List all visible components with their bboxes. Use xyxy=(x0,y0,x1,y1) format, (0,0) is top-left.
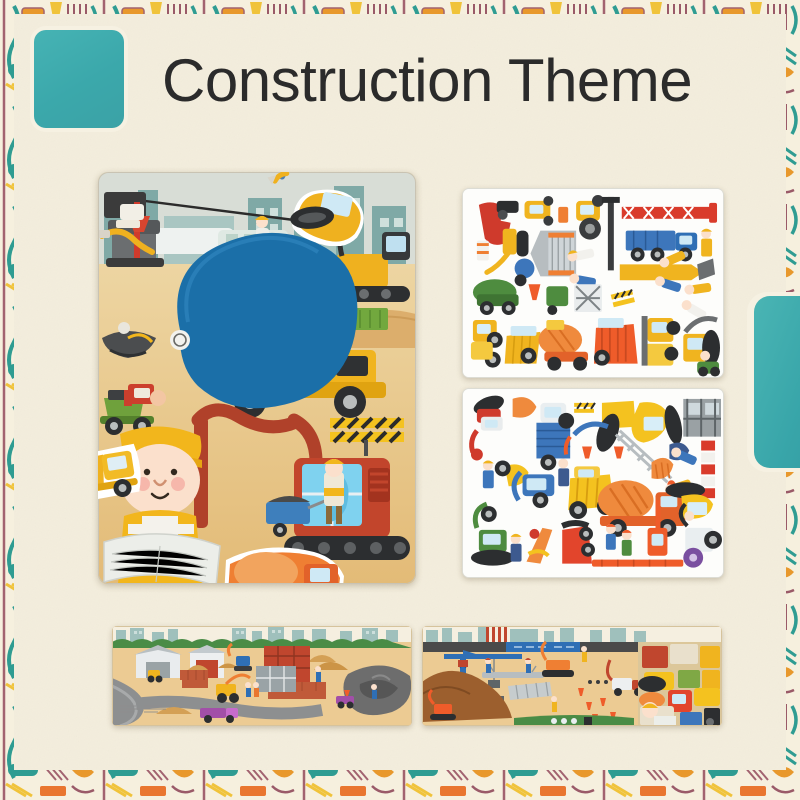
side-tab[interactable] xyxy=(754,296,800,468)
excavator-sticker-top[interactable] xyxy=(266,172,386,246)
poster-root: Construction Theme xyxy=(0,0,800,800)
product-photo-book[interactable] xyxy=(98,172,416,584)
header: Construction Theme xyxy=(14,14,786,146)
brand-chip xyxy=(34,30,124,128)
dump-truck-sticker-left[interactable] xyxy=(98,434,146,514)
sticker-sheet-1[interactable] xyxy=(462,188,724,378)
page-title: Construction Theme xyxy=(162,48,786,114)
scene-strip-2[interactable] xyxy=(422,626,722,726)
content-card: Construction Theme xyxy=(14,14,786,770)
scene-strip-1[interactable] xyxy=(112,626,412,726)
sticker-sheet-2[interactable] xyxy=(462,388,724,578)
